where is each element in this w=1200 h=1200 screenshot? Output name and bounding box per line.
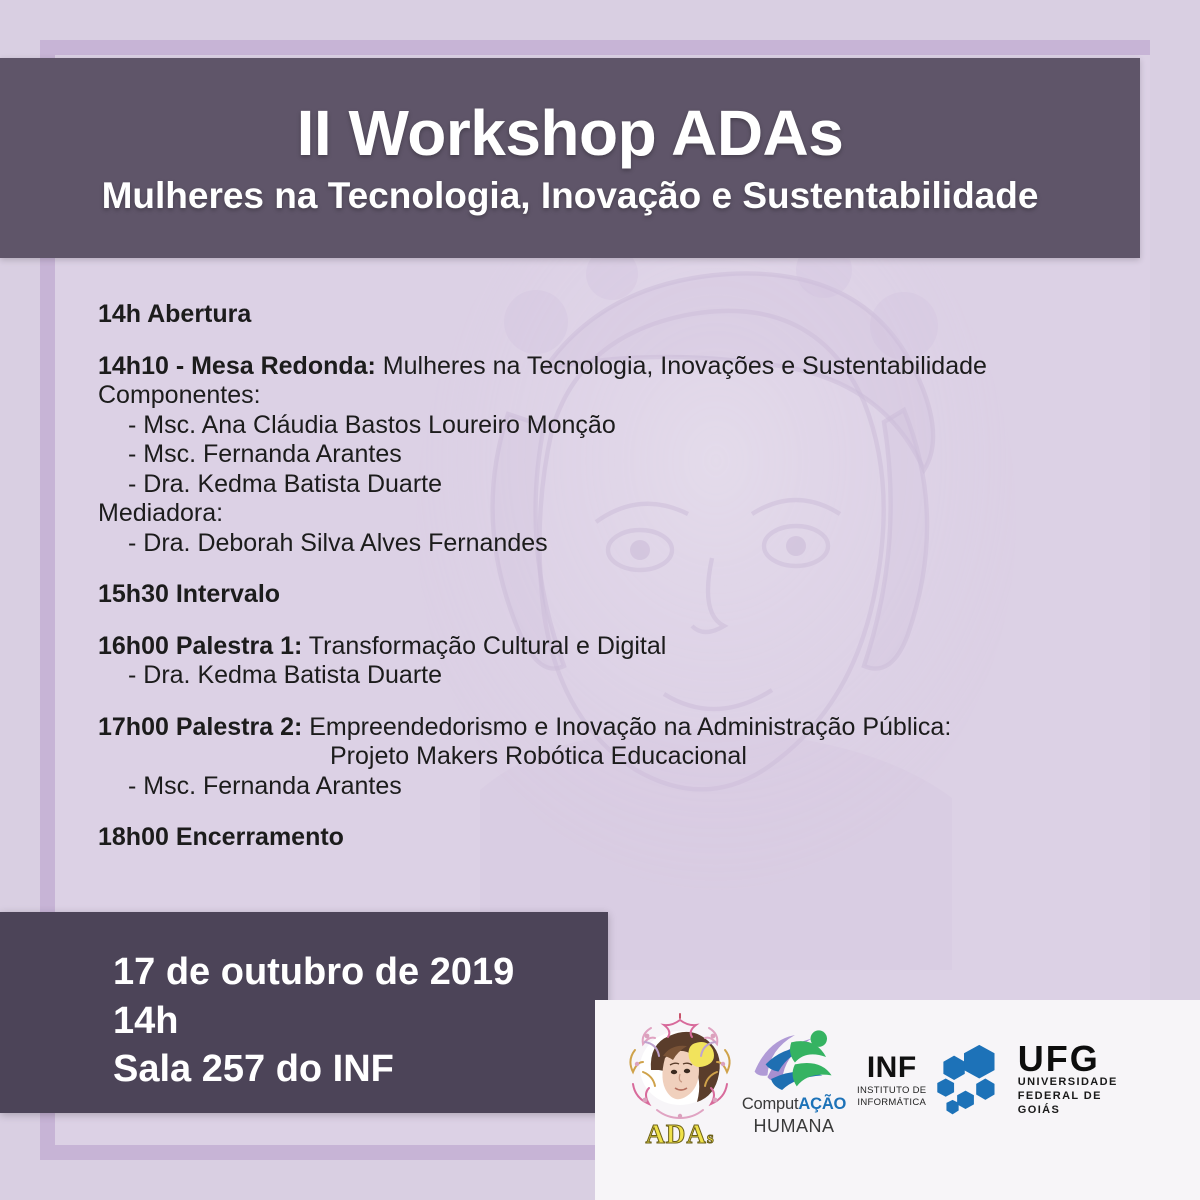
- program-schedule: 14h Abertura 14h10 - Mesa Redonda: Mulhe…: [98, 300, 1118, 853]
- event-time: 14h: [113, 997, 514, 1046]
- program-item: 14h Abertura: [98, 300, 1118, 330]
- program-item: 14h10 - Mesa Redonda: Mulheres na Tecnol…: [98, 352, 1118, 559]
- program-time-label: 16h00 Palestra 1:: [98, 632, 302, 660]
- event-date: 17 de outubro de 2019: [113, 948, 514, 997]
- program-detail-line: Componentes:: [98, 381, 1118, 411]
- program-detail-line: Mediadora:: [98, 499, 1118, 529]
- event-location: Sala 257 do INF: [113, 1045, 514, 1094]
- program-item: 15h30 Intervalo: [98, 580, 1118, 610]
- ufg-acronym: UFG: [1018, 1042, 1134, 1076]
- computacao-wordmark-line2: HUMANA: [739, 1116, 849, 1137]
- ufg-subtitle-line2: FEDERAL DE GOIÁS: [1018, 1090, 1134, 1118]
- program-detail-line: - Msc. Fernanda Arantes: [98, 772, 1118, 802]
- program-time-label: 18h00 Encerramento: [98, 823, 344, 851]
- program-time-label: 15h30 Intervalo: [98, 580, 280, 608]
- ufg-subtitle-line1: UNIVERSIDADE: [1018, 1076, 1134, 1090]
- inf-subtitle-line2: INFORMÁTICA: [849, 1097, 935, 1109]
- inf-subtitle-line1: INSTITUTO DE: [849, 1085, 935, 1097]
- program-title: Transformação Cultural e Digital: [302, 632, 666, 660]
- adas-logo: ADAs: [621, 1012, 739, 1148]
- program-title: Mulheres na Tecnologia, Inovações e Sust…: [376, 352, 987, 380]
- program-detail-line: Projeto Makers Robótica Educacional: [98, 742, 1118, 772]
- program-item: 16h00 Palestra 1: Transformação Cultural…: [98, 632, 1118, 691]
- inf-logo: INF INSTITUTO DE INFORMÁTICA: [849, 1051, 935, 1109]
- program-time-label: 14h Abertura: [98, 300, 251, 328]
- poster-title: II Workshop ADAs: [297, 101, 844, 165]
- poster-subtitle: Mulheres na Tecnologia, Inovação e Suste…: [102, 177, 1039, 216]
- adas-emblem-icon: [621, 1012, 739, 1124]
- computacao-humana-icon: [739, 1024, 849, 1090]
- logo-bar: ADAs ComputAÇÃO HUMANA INF IN: [595, 1000, 1200, 1200]
- program-item: 18h00 Encerramento: [98, 823, 1118, 853]
- ufg-hexagon-icon: [935, 1037, 1011, 1123]
- title-band: II Workshop ADAs Mulheres na Tecnologia,…: [0, 58, 1140, 258]
- program-detail-line: - Msc. Fernanda Arantes: [98, 440, 1118, 470]
- program-detail-line: - Msc. Ana Cláudia Bastos Loureiro Monçã…: [98, 411, 1118, 441]
- event-details-box: 17 de outubro de 2019 14h Sala 257 do IN…: [0, 912, 608, 1113]
- program-detail-line: - Dra. Deborah Silva Alves Fernandes: [98, 529, 1118, 559]
- inf-acronym: INF: [849, 1051, 935, 1085]
- computacao-humana-logo: ComputAÇÃO HUMANA: [739, 1024, 849, 1137]
- computacao-wordmark-line1: ComputAÇÃO: [739, 1095, 849, 1114]
- program-time-label: 17h00 Palestra 2:: [98, 713, 302, 741]
- adas-wordmark: ADAs: [621, 1119, 739, 1150]
- poster-root: II Workshop ADAs Mulheres na Tecnologia,…: [0, 0, 1200, 1200]
- program-item: 17h00 Palestra 2: Empreendedorismo e Ino…: [98, 713, 1118, 802]
- program-time-label: 14h10 - Mesa Redonda:: [98, 352, 376, 380]
- program-title: Empreendedorismo e Inovação na Administr…: [302, 713, 951, 741]
- ufg-logo: UFG UNIVERSIDADE FEDERAL DE GOIÁS: [935, 1037, 1135, 1123]
- program-detail-line: - Dra. Kedma Batista Duarte: [98, 470, 1118, 500]
- program-detail-line: - Dra. Kedma Batista Duarte: [98, 661, 1118, 691]
